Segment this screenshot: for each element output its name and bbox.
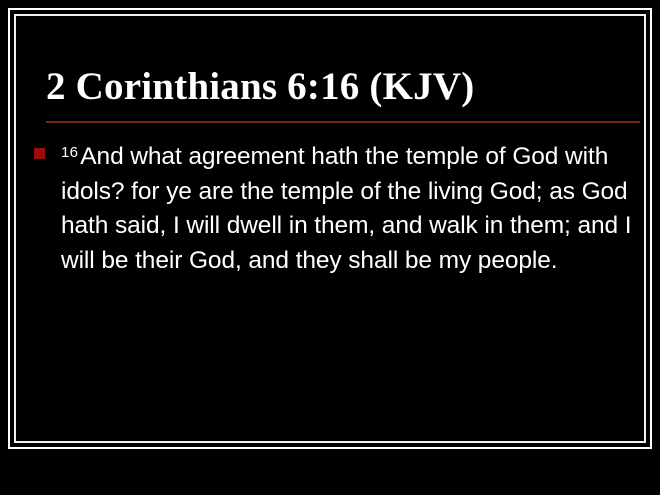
list-item: 16And what agreement hath the temple of … bbox=[28, 136, 636, 278]
verse-number: 16 bbox=[61, 144, 80, 161]
square-bullet-icon bbox=[34, 148, 45, 159]
title-divider bbox=[46, 121, 640, 123]
presentation-slide: 2 Corinthians 6:16 (KJV) 16And what agre… bbox=[0, 0, 660, 495]
page-title: 2 Corinthians 6:16 (KJV) bbox=[46, 64, 616, 110]
slide-content-area: 2 Corinthians 6:16 (KJV) 16And what agre… bbox=[20, 20, 640, 437]
slide-body-block: 16And what agreement hath the temple of … bbox=[28, 136, 636, 278]
verse-body: And what agreement hath the temple of Go… bbox=[61, 143, 631, 274]
bullet-text: 16And what agreement hath the temple of … bbox=[61, 136, 636, 278]
slide-title-block: 2 Corinthians 6:16 (KJV) bbox=[46, 64, 616, 110]
